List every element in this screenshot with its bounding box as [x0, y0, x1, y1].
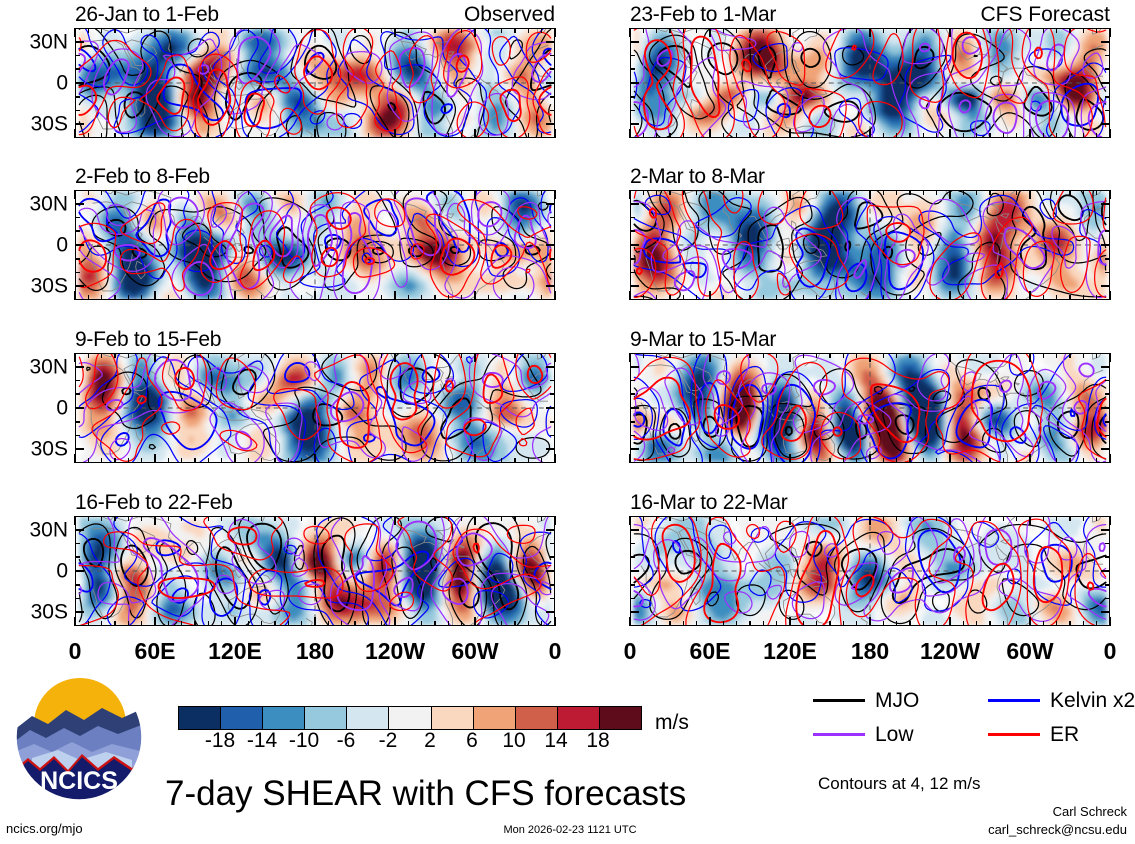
y-tick-minor [1105, 110, 1110, 112]
x-tick-minor [461, 621, 463, 626]
y-axis-label: 30S [31, 276, 68, 297]
x-tick-major [74, 516, 76, 525]
x-tick-minor [461, 295, 463, 300]
colorbar-swatch [389, 707, 431, 729]
x-tick-minor [683, 295, 685, 300]
y-tick-minor [550, 543, 555, 545]
x-tick-minor [923, 458, 925, 463]
x-tick-minor [301, 28, 303, 33]
x-tick-major [709, 454, 711, 463]
y-tick-minor [75, 230, 80, 232]
x-tick-minor [461, 28, 463, 33]
y-tick-major [1101, 366, 1110, 368]
x-tick-major [234, 291, 236, 300]
x-tick-minor [683, 516, 685, 521]
x-tick-minor [643, 295, 645, 300]
x-tick-minor [328, 353, 330, 358]
x-tick-minor [301, 353, 303, 358]
y-tick-major [630, 244, 639, 246]
x-tick-minor [168, 353, 170, 358]
x-tick-minor [181, 133, 183, 138]
x-tick-major [394, 28, 396, 37]
x-tick-minor [923, 621, 925, 626]
x-tick-minor [541, 353, 543, 358]
x-tick-minor [776, 516, 778, 521]
x-tick-minor [1003, 190, 1005, 195]
x-tick-minor [1096, 458, 1098, 463]
x-axis-label: 120E [763, 640, 817, 663]
x-tick-minor [248, 133, 250, 138]
x-tick-minor [669, 353, 671, 358]
y-tick-minor [75, 380, 80, 382]
x-tick-minor [528, 458, 530, 463]
y-tick-major [75, 611, 84, 613]
x-tick-minor [208, 458, 210, 463]
x-tick-minor [1016, 190, 1018, 195]
x-tick-minor [301, 295, 303, 300]
x-tick-minor [989, 516, 991, 521]
x-tick-minor [803, 295, 805, 300]
x-tick-minor [843, 621, 845, 626]
x-tick-minor [141, 190, 143, 195]
x-tick-minor [909, 28, 911, 33]
x-tick-minor [989, 133, 991, 138]
x-tick-minor [128, 621, 130, 626]
x-tick-minor [749, 190, 751, 195]
legend-line-swatch [813, 699, 865, 702]
x-tick-minor [723, 516, 725, 521]
y-tick-major [1101, 529, 1110, 531]
x-tick-minor [1043, 190, 1045, 195]
x-tick-minor [488, 621, 490, 626]
x-tick-minor [114, 28, 116, 33]
y-tick-minor [630, 230, 635, 232]
shear-anomaly-field [76, 354, 554, 462]
panel-title: 2-Feb to 8-Feb [75, 166, 210, 187]
x-tick-minor [301, 516, 303, 521]
x-tick-minor [421, 190, 423, 195]
x-tick-minor [88, 133, 90, 138]
y-axis-label: 30N [29, 519, 68, 540]
x-tick-minor [976, 295, 978, 300]
x-tick-minor [803, 28, 805, 33]
x-tick-major [1109, 291, 1111, 300]
x-tick-minor [923, 190, 925, 195]
x-tick-minor [421, 295, 423, 300]
x-tick-minor [696, 28, 698, 33]
x-tick-minor [328, 458, 330, 463]
x-tick-minor [1043, 28, 1045, 33]
x-tick-minor [488, 28, 490, 33]
x-tick-minor [1083, 295, 1085, 300]
x-tick-minor [896, 516, 898, 521]
x-tick-minor [101, 353, 103, 358]
x-tick-minor [221, 458, 223, 463]
y-tick-minor [550, 55, 555, 57]
x-tick-minor [368, 353, 370, 358]
x-tick-minor [909, 295, 911, 300]
x-tick-minor [736, 28, 738, 33]
y-tick-minor [1105, 272, 1110, 274]
x-tick-minor [261, 190, 263, 195]
shear-anomaly-field [631, 191, 1109, 299]
y-tick-minor [75, 598, 80, 600]
map-panel: 16-Feb to 22-Feb 30N030S [75, 516, 555, 626]
x-tick-minor [141, 295, 143, 300]
x-tick-minor [683, 28, 685, 33]
x-tick-minor [194, 28, 196, 33]
x-tick-major [869, 454, 871, 463]
x-tick-minor [514, 516, 516, 521]
x-tick-minor [408, 295, 410, 300]
x-tick-minor [381, 133, 383, 138]
x-tick-minor [936, 28, 938, 33]
x-tick-minor [488, 353, 490, 358]
y-axis-label: 30S [31, 439, 68, 460]
x-tick-minor [88, 353, 90, 358]
column-header: CFS Forecast [980, 4, 1110, 25]
x-tick-minor [354, 190, 356, 195]
x-tick-minor [141, 28, 143, 33]
x-tick-minor [1016, 458, 1018, 463]
x-tick-minor [749, 516, 751, 521]
main-title: 7-day SHEAR with CFS forecasts [165, 776, 686, 811]
y-tick-major [1101, 570, 1110, 572]
x-tick-minor [248, 353, 250, 358]
x-tick-minor [736, 295, 738, 300]
y-tick-minor [1105, 55, 1110, 57]
colorbar-swatch [263, 707, 305, 729]
x-tick-minor [114, 516, 116, 521]
x-tick-minor [763, 28, 765, 33]
x-tick-minor [368, 621, 370, 626]
x-tick-minor [274, 353, 276, 358]
x-tick-major [869, 617, 871, 626]
x-tick-minor [221, 295, 223, 300]
y-tick-major [1101, 123, 1110, 125]
x-tick-minor [896, 190, 898, 195]
x-tick-minor [843, 190, 845, 195]
x-tick-minor [829, 190, 831, 195]
x-tick-minor [936, 458, 938, 463]
x-axis-label: 180 [296, 640, 334, 663]
y-tick-major [75, 570, 84, 572]
x-tick-major [629, 28, 631, 37]
y-tick-major [630, 611, 639, 613]
x-tick-minor [434, 458, 436, 463]
x-tick-minor [1069, 133, 1071, 138]
x-tick-minor [963, 516, 965, 521]
x-tick-major [394, 516, 396, 525]
y-tick-major [546, 123, 555, 125]
x-tick-minor [736, 516, 738, 521]
x-tick-minor [656, 28, 658, 33]
x-tick-minor [656, 458, 658, 463]
x-tick-minor [328, 28, 330, 33]
colorbar-tick-label: -2 [379, 730, 398, 751]
x-tick-minor [976, 190, 978, 195]
panel-title: 9-Feb to 15-Feb [75, 329, 221, 350]
x-tick-major [949, 28, 951, 37]
x-tick-minor [434, 190, 436, 195]
x-tick-minor [261, 458, 263, 463]
x-tick-minor [909, 516, 911, 521]
x-tick-minor [896, 28, 898, 33]
x-tick-minor [643, 621, 645, 626]
x-tick-minor [194, 190, 196, 195]
x-tick-minor [101, 621, 103, 626]
x-tick-major [154, 516, 156, 525]
x-tick-minor [1069, 28, 1071, 33]
x-tick-minor [656, 621, 658, 626]
panel-title: 26-Jan to 1-Feb [75, 4, 219, 25]
x-tick-minor [181, 516, 183, 521]
map-plot-area [75, 190, 555, 300]
x-tick-minor [248, 28, 250, 33]
legend-label: Low [875, 724, 914, 745]
x-tick-minor [723, 458, 725, 463]
x-tick-major [629, 353, 631, 362]
y-tick-minor [630, 598, 635, 600]
x-tick-minor [528, 621, 530, 626]
colorbar-tick-labels: -18-14-10-6-226101418 [178, 730, 640, 756]
x-tick-minor [301, 621, 303, 626]
x-tick-minor [274, 133, 276, 138]
x-tick-minor [261, 621, 263, 626]
y-axis-label: 0 [56, 398, 68, 419]
x-tick-minor [181, 458, 183, 463]
y-tick-minor [550, 96, 555, 98]
x-tick-minor [114, 190, 116, 195]
x-tick-minor [843, 295, 845, 300]
x-tick-minor [896, 353, 898, 358]
x-tick-minor [341, 295, 343, 300]
x-tick-minor [896, 133, 898, 138]
x-tick-minor [896, 621, 898, 626]
x-tick-minor [1003, 458, 1005, 463]
x-tick-minor [488, 458, 490, 463]
colorbar-swatch [179, 707, 221, 729]
x-tick-major [629, 129, 631, 138]
x-tick-minor [683, 133, 685, 138]
x-axis-label: 0 [1104, 640, 1117, 663]
x-axis-label: 60E [690, 640, 731, 663]
colorbar-tick-label: -10 [289, 730, 319, 751]
y-tick-minor [550, 393, 555, 395]
x-tick-major [789, 516, 791, 525]
x-axis-left: 060E120E180120W60W0 [75, 640, 555, 670]
x-tick-minor [829, 621, 831, 626]
x-tick-minor [776, 28, 778, 33]
footer-timestamp: Mon 2026-02-23 1121 UTC [503, 825, 636, 836]
x-tick-minor [656, 295, 658, 300]
x-tick-minor [368, 190, 370, 195]
x-tick-minor [696, 190, 698, 195]
x-tick-minor [1069, 458, 1071, 463]
x-tick-minor [168, 621, 170, 626]
x-tick-minor [856, 621, 858, 626]
y-tick-minor [75, 96, 80, 98]
map-plot-area [75, 353, 555, 463]
x-tick-minor [528, 516, 530, 521]
x-tick-minor [381, 353, 383, 358]
x-tick-major [789, 190, 791, 199]
map-panel: 2-Mar to 8-Mar [630, 190, 1110, 300]
x-tick-minor [683, 458, 685, 463]
y-tick-major [75, 407, 84, 409]
x-tick-minor [421, 621, 423, 626]
x-tick-major [554, 353, 556, 362]
x-tick-major [234, 190, 236, 199]
x-tick-minor [963, 458, 965, 463]
x-tick-minor [501, 621, 503, 626]
x-tick-major [869, 291, 871, 300]
x-tick-major [709, 291, 711, 300]
y-tick-major [75, 41, 84, 43]
x-tick-minor [408, 190, 410, 195]
x-tick-minor [354, 516, 356, 521]
x-tick-major [74, 28, 76, 37]
x-tick-major [1109, 454, 1111, 463]
x-tick-major [1029, 129, 1031, 138]
x-tick-minor [408, 28, 410, 33]
map-plot-area [630, 190, 1110, 300]
x-tick-minor [341, 190, 343, 195]
x-tick-major [314, 617, 316, 626]
colorbar-tick-label: -6 [337, 730, 356, 751]
x-tick-minor [1003, 133, 1005, 138]
x-tick-major [869, 190, 871, 199]
map-panel: 2-Feb to 8-Feb 30N030S [75, 190, 555, 300]
x-tick-major [709, 353, 711, 362]
x-tick-minor [976, 516, 978, 521]
contour-legend: MJOKelvin x2LowER [813, 690, 1123, 750]
y-tick-minor [630, 556, 635, 558]
x-tick-minor [421, 28, 423, 33]
y-tick-minor [1105, 584, 1110, 586]
x-tick-minor [528, 133, 530, 138]
y-tick-major [546, 82, 555, 84]
y-tick-major [75, 529, 84, 531]
colorbar-swatch [558, 707, 600, 729]
y-tick-major [630, 41, 639, 43]
x-tick-minor [541, 190, 543, 195]
x-tick-minor [448, 28, 450, 33]
y-tick-major [630, 570, 639, 572]
x-tick-minor [683, 190, 685, 195]
x-tick-minor [168, 28, 170, 33]
x-tick-minor [763, 516, 765, 521]
panel-title: 9-Mar to 15-Mar [630, 329, 776, 350]
x-tick-minor [723, 353, 725, 358]
x-tick-minor [101, 516, 103, 521]
x-tick-minor [248, 190, 250, 195]
x-tick-minor [896, 295, 898, 300]
x-axis-label: 0 [549, 640, 562, 663]
x-tick-minor [1056, 28, 1058, 33]
x-tick-minor [514, 190, 516, 195]
x-tick-minor [381, 458, 383, 463]
x-tick-minor [696, 516, 698, 521]
y-tick-major [546, 448, 555, 450]
x-tick-minor [816, 133, 818, 138]
x-tick-major [869, 516, 871, 525]
y-tick-minor [630, 584, 635, 586]
legend-label: MJO [875, 690, 919, 711]
x-tick-minor [1043, 621, 1045, 626]
x-tick-major [869, 353, 871, 362]
y-tick-minor [630, 393, 635, 395]
x-tick-minor [88, 295, 90, 300]
y-tick-minor [75, 393, 80, 395]
x-tick-minor [341, 621, 343, 626]
x-tick-minor [328, 295, 330, 300]
x-tick-minor [208, 190, 210, 195]
x-tick-minor [381, 190, 383, 195]
x-tick-minor [328, 190, 330, 195]
x-tick-minor [114, 133, 116, 138]
x-tick-major [234, 516, 236, 525]
shear-anomaly-field [631, 517, 1109, 625]
x-tick-minor [669, 190, 671, 195]
x-tick-minor [923, 516, 925, 521]
x-tick-minor [883, 133, 885, 138]
x-tick-minor [1003, 28, 1005, 33]
x-tick-minor [541, 516, 543, 521]
colorbar-units: m/s [655, 712, 689, 733]
x-tick-minor [976, 28, 978, 33]
y-tick-minor [550, 435, 555, 437]
x-tick-major [394, 190, 396, 199]
x-tick-minor [248, 621, 250, 626]
x-tick-major [1029, 353, 1031, 362]
x-tick-minor [288, 516, 290, 521]
x-tick-minor [208, 295, 210, 300]
x-tick-minor [328, 621, 330, 626]
x-tick-minor [1003, 516, 1005, 521]
x-tick-minor [514, 353, 516, 358]
x-tick-minor [501, 353, 503, 358]
x-tick-minor [341, 133, 343, 138]
colorbar-swatch [474, 707, 516, 729]
x-tick-minor [1096, 295, 1098, 300]
x-tick-minor [843, 353, 845, 358]
y-tick-major [1101, 244, 1110, 246]
x-tick-minor [128, 133, 130, 138]
x-tick-minor [763, 353, 765, 358]
x-tick-major [474, 291, 476, 300]
x-tick-minor [763, 295, 765, 300]
x-tick-minor [989, 28, 991, 33]
colorbar-tick-label: 2 [424, 730, 436, 751]
x-tick-major [869, 28, 871, 37]
x-tick-minor [816, 28, 818, 33]
x-tick-major [1109, 516, 1111, 525]
y-tick-major [546, 407, 555, 409]
x-tick-major [709, 617, 711, 626]
y-axis-label: 0 [56, 73, 68, 94]
x-tick-minor [274, 458, 276, 463]
x-tick-minor [989, 621, 991, 626]
x-tick-major [314, 516, 316, 525]
x-tick-minor [883, 458, 885, 463]
x-tick-minor [816, 458, 818, 463]
x-tick-minor [448, 621, 450, 626]
x-tick-minor [114, 458, 116, 463]
x-tick-minor [221, 516, 223, 521]
colorbar-swatch [600, 707, 641, 729]
legend-item-mjo: MJO [813, 690, 919, 711]
